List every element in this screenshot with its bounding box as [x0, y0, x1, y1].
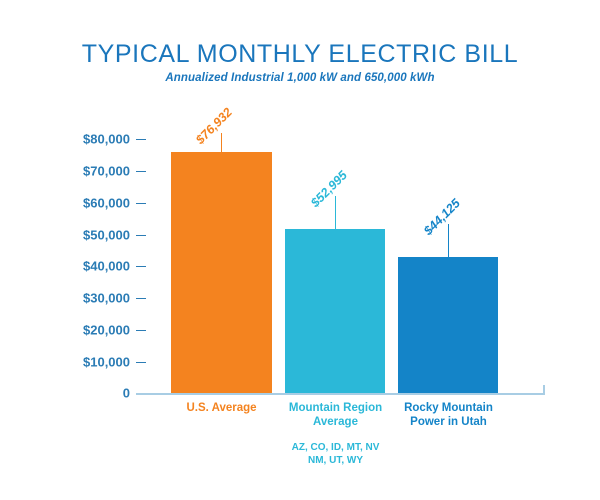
leader-line-mountain-region-average [335, 196, 336, 229]
x-axis-sublabel-line1: AZ, CO, ID, MT, NV [270, 441, 401, 454]
y-axis-tick-label: $50,000 [45, 228, 130, 243]
y-axis-tick-mark [136, 298, 146, 299]
y-axis-tick-label: $70,000 [45, 164, 130, 179]
x-axis-baseline [136, 393, 545, 395]
value-label-us-average: $76,932 [193, 105, 235, 147]
x-axis-label-line1: U.S. Average [156, 401, 287, 415]
y-axis-tick-mark [136, 266, 146, 267]
plot-area: $80,000 $70,000 $60,000 $50,000 $40,000 … [0, 0, 600, 500]
y-axis-tick-label: $30,000 [45, 291, 130, 306]
bar-mountain-region-average [285, 229, 385, 393]
leader-line-us-average [221, 133, 222, 152]
y-axis-tick-mark [136, 330, 146, 331]
y-axis-tick-mark [136, 235, 146, 236]
y-axis-tick-label: 0 [45, 386, 130, 401]
y-axis-tick-label: $40,000 [45, 259, 130, 274]
y-axis-tick-mark [136, 362, 146, 363]
bar-us-average [171, 152, 272, 393]
x-axis-label-line2: Power in Utah [383, 415, 514, 429]
x-axis-label-line2: Average [270, 415, 401, 429]
y-axis-tick-label: $80,000 [45, 132, 130, 147]
leader-line-rocky-mountain-power-utah [448, 224, 449, 257]
bar-rocky-mountain-power-utah [398, 257, 498, 393]
x-axis-label-line1: Mountain Region [270, 401, 401, 415]
x-axis-label-line1: Rocky Mountain [383, 401, 514, 415]
value-label-mountain-region-average: $52,995 [308, 168, 350, 210]
y-axis-tick-mark [136, 171, 146, 172]
x-axis-end-tick [543, 385, 545, 394]
value-label-rocky-mountain-power-utah: $44,125 [421, 196, 463, 238]
y-axis-tick-mark [136, 203, 146, 204]
x-axis-sublabel-line2: NM, UT, WY [270, 454, 401, 467]
x-axis-label-rocky-mountain-power-utah: Rocky Mountain Power in Utah [383, 401, 514, 430]
bar-chart: TYPICAL MONTHLY ELECTRIC BILL Annualized… [0, 0, 600, 500]
y-axis-tick-label: $20,000 [45, 323, 130, 338]
x-axis-sublabel-states: AZ, CO, ID, MT, NV NM, UT, WY [270, 441, 401, 467]
y-axis-tick-label: $60,000 [45, 196, 130, 211]
x-axis-label-mountain-region-average: Mountain Region Average [270, 401, 401, 430]
x-axis-label-us-average: U.S. Average [156, 401, 287, 415]
y-axis-tick-mark [136, 139, 146, 140]
y-axis-tick-label: $10,000 [45, 355, 130, 370]
